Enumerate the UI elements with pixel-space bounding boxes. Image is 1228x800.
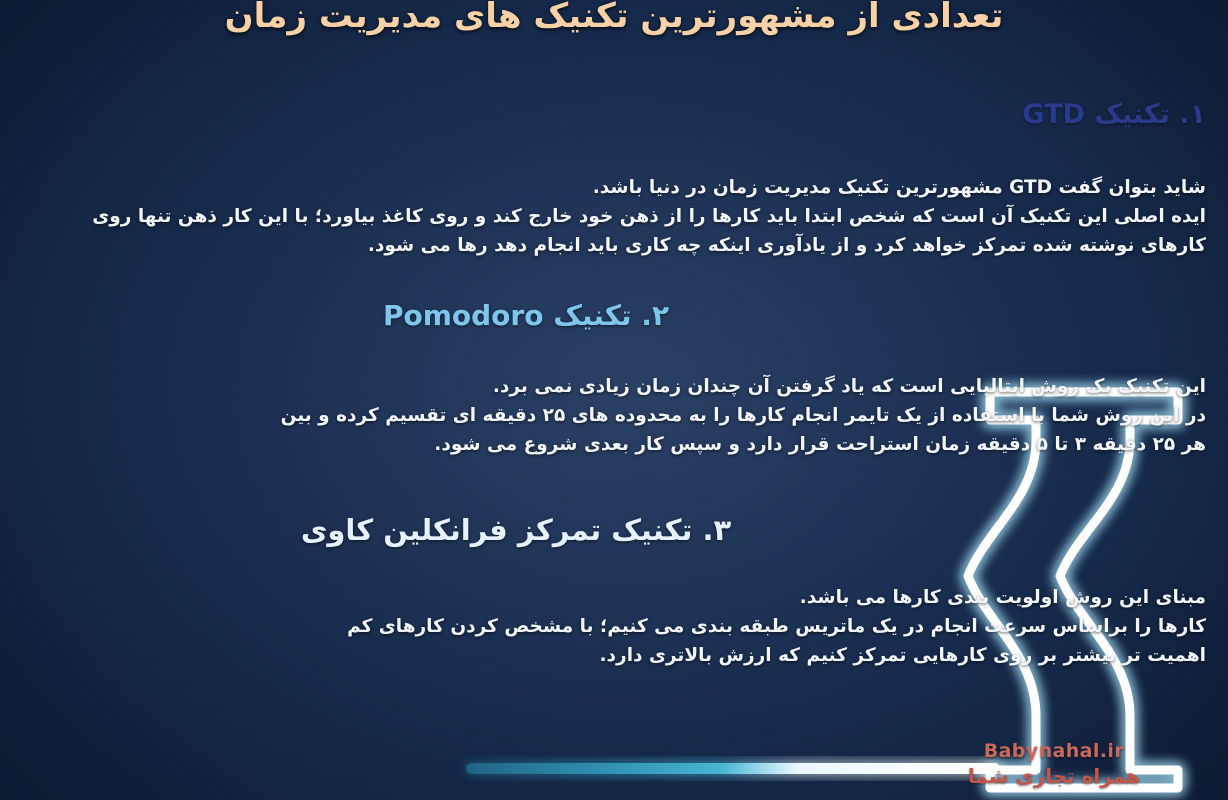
section-franklin-covey: ۳. تکنیک تمرکز فرانکلین کاوی مبنای این ر…: [26, 512, 1206, 672]
infographic-poster: تعدادی از مشهورترین تکنیک های مدیریت زما…: [0, 0, 1228, 800]
section-pomodoro-body: این تکنیک یک روش ایتالیایی است که یاد گر…: [26, 373, 1206, 459]
section-gtd: ۱. تکنیک GTD شاید بتوان گفت GTD مشهورتری…: [26, 98, 1206, 261]
section-pomodoro-heading: ۲. تکنیک Pomodoro: [26, 298, 1206, 333]
page-title: تعدادی از مشهورترین تکنیک های مدیریت زما…: [28, 0, 1200, 36]
section-pomodoro: ۲. تکنیک Pomodoro این تکنیک یک روش ایتال…: [26, 298, 1206, 460]
hourglass-base-bar: [466, 763, 1000, 774]
section-gtd-line-1: شاید بتوان گفت GTD مشهورترین تکنیک مدیری…: [26, 174, 1206, 202]
section-pomodoro-line-3: هر ۲۵ دقیقه ۳ تا ۵ دقیقه زمان استراحت قر…: [26, 431, 1206, 459]
section-gtd-line-2: ایده اصلی این تکنیک آن است که شخص ابتدا …: [26, 203, 1206, 231]
section-gtd-line-3: کارهای نوشته شده تمرکز خواهد کرد و از یا…: [26, 232, 1206, 260]
section-franklin-covey-line-1: مبنای این روش اولویت بندی کارها می باشد.: [26, 584, 1206, 612]
section-franklin-covey-line-3: اهمیت تر بیشتر بر روی کارهایی تمرکز کنیم…: [26, 642, 1206, 670]
section-franklin-covey-body: مبنای این روش اولویت بندی کارها می باشد.…: [26, 584, 1206, 670]
watermark: Babynahal.ir همراه تجاری شما: [968, 740, 1140, 788]
watermark-site-name: Babynahal.ir: [968, 740, 1140, 763]
section-franklin-covey-line-2: کارها را براساس سرعت انجام در یک ماتریس …: [26, 613, 1206, 641]
section-pomodoro-line-1: این تکنیک یک روش ایتالیایی است که یاد گر…: [26, 373, 1206, 401]
section-gtd-body: شاید بتوان گفت GTD مشهورترین تکنیک مدیری…: [26, 174, 1206, 260]
section-franklin-covey-heading: ۳. تکنیک تمرکز فرانکلین کاوی: [26, 512, 1206, 548]
section-gtd-heading: ۱. تکنیک GTD: [26, 98, 1206, 132]
section-pomodoro-line-2: در این روش شما با استفاده از یک تایمر ان…: [26, 402, 1206, 430]
watermark-tagline: همراه تجاری شما: [968, 764, 1140, 788]
